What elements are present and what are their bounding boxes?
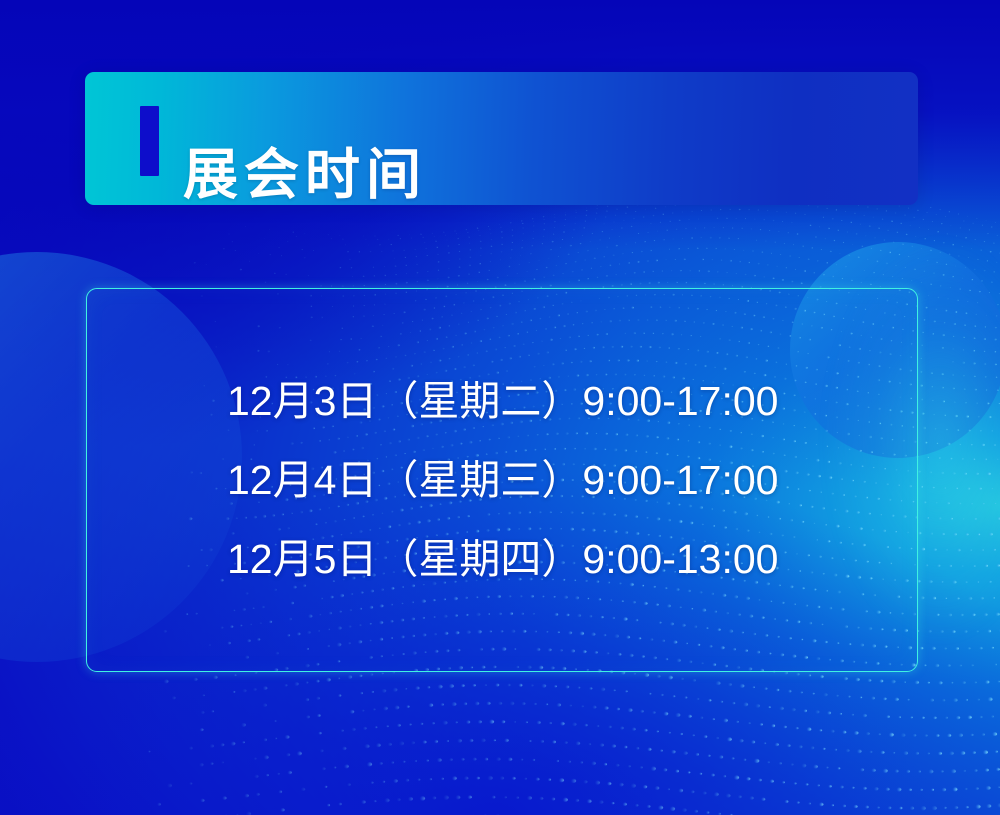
- page-title: 展会时间: [183, 148, 427, 203]
- schedule-item: 12月4日（星期三）9:00-17:00: [227, 460, 787, 501]
- schedule-item: 12月5日（星期四）9:00-13:00: [227, 539, 787, 580]
- section-header-banner: 展会时间: [85, 72, 918, 205]
- vertical-accent-bar-icon: [140, 106, 159, 176]
- schedule-item: 12月3日（星期二）9:00-17:00: [227, 381, 787, 422]
- schedule-list: 12月3日（星期二）9:00-17:00 12月4日（星期三）9:00-17:0…: [227, 288, 787, 672]
- exhibition-time-poster: 展会时间 12月3日（星期二）9:00-17:00 12月4日（星期三）9:00…: [0, 0, 1000, 815]
